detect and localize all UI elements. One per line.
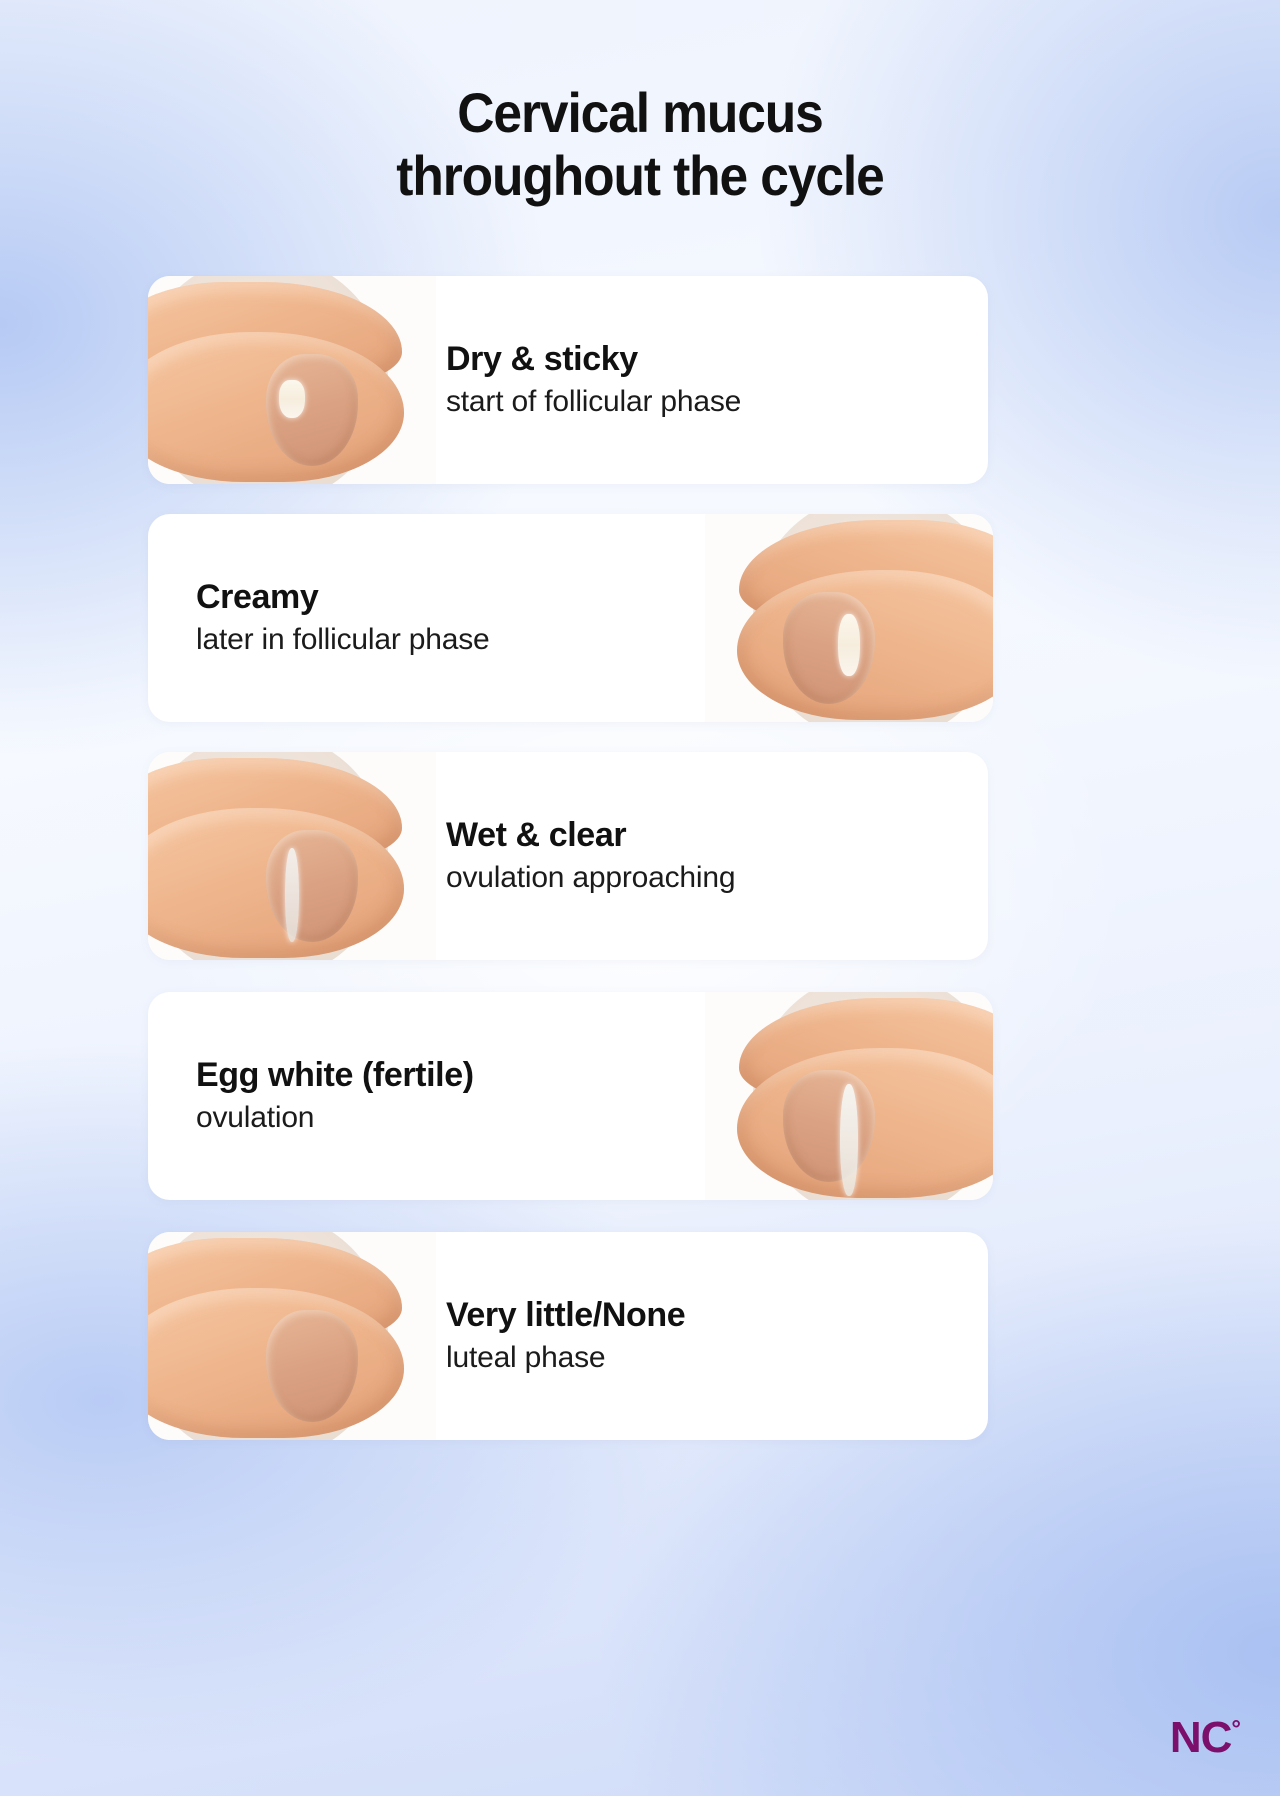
card-heading: Dry & sticky (446, 339, 741, 379)
thumb-nail (266, 830, 358, 942)
page-title: Cervical mucus throughout the cycle (51, 82, 1229, 207)
thumb-nail (783, 1070, 875, 1182)
hand-illustration (148, 276, 436, 484)
card-photo-very-little-none (148, 1232, 436, 1440)
card-subtext: luteal phase (446, 1339, 685, 1377)
mucus-card-creamy: Creamy later in follicular phase (148, 514, 993, 722)
mucus-strand (840, 1084, 858, 1196)
infographic-stage: Cervical mucus throughout the cycle Dry … (0, 0, 1280, 1796)
thumb-nail (266, 1310, 358, 1422)
card-photo-dry-sticky (148, 276, 436, 484)
card-photo-wet-clear (148, 752, 436, 960)
mucus-card-very-little-none: Very little/None luteal phase (148, 1232, 988, 1440)
card-heading: Very little/None (446, 1295, 685, 1335)
card-text-block: Dry & sticky start of follicular phase (446, 339, 741, 421)
mucus-card-dry-sticky: Dry & sticky start of follicular phase (148, 276, 988, 484)
card-heading: Wet & clear (446, 815, 735, 855)
card-subtext: later in follicular phase (196, 621, 490, 659)
card-heading: Creamy (196, 577, 490, 617)
brand-logo-text: NC (1170, 1716, 1232, 1760)
thumb-nail (783, 592, 875, 704)
mucus-strand (279, 380, 305, 418)
page-title-line-2: throughout the cycle (51, 145, 1229, 208)
card-text-block: Very little/None luteal phase (446, 1295, 685, 1377)
brand-logo: NC ° (1170, 1716, 1240, 1760)
card-subtext: ovulation approaching (446, 859, 735, 897)
card-heading: Egg white (fertile) (196, 1055, 474, 1095)
brand-logo-degree-icon: ° (1231, 1718, 1240, 1742)
card-photo-creamy (705, 514, 993, 722)
hand-illustration (148, 752, 436, 960)
card-subtext: ovulation (196, 1099, 474, 1137)
card-subtext: start of follicular phase (446, 383, 741, 421)
mucus-strand (285, 848, 299, 942)
hand-illustration (705, 514, 993, 722)
mucus-card-egg-white: Egg white (fertile) ovulation (148, 992, 993, 1200)
page-title-line-1: Cervical mucus (51, 82, 1229, 145)
card-text-block: Egg white (fertile) ovulation (196, 1055, 474, 1137)
card-photo-egg-white (705, 992, 993, 1200)
card-text-block: Wet & clear ovulation approaching (446, 815, 735, 897)
hand-illustration (148, 1232, 436, 1440)
card-text-block: Creamy later in follicular phase (196, 577, 490, 659)
mucus-strand (838, 614, 860, 676)
mucus-card-wet-clear: Wet & clear ovulation approaching (148, 752, 988, 960)
hand-illustration (705, 992, 993, 1200)
